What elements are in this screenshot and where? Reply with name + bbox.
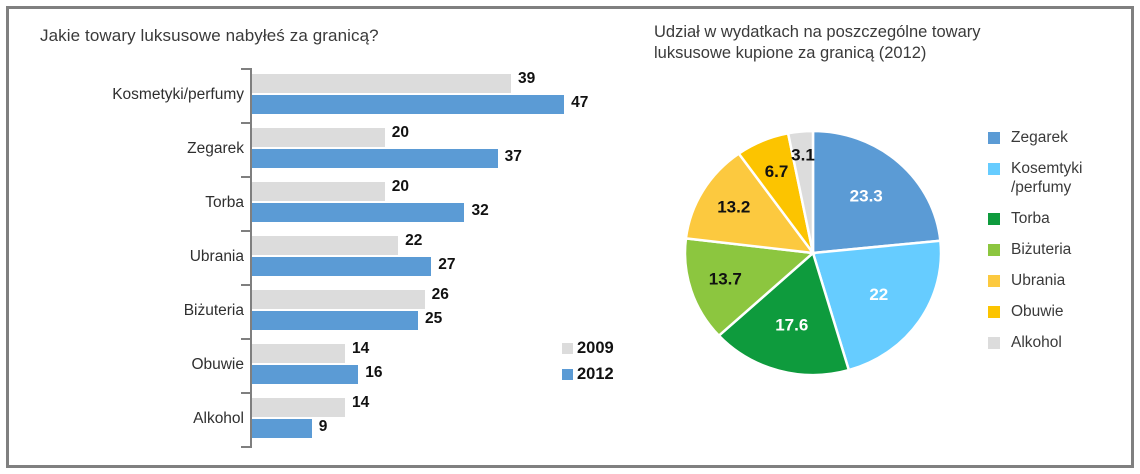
pie-legend-item: Torba: [988, 209, 1128, 228]
bar-group: Obuwie1416: [10, 342, 640, 396]
pie-legend-swatch: [988, 275, 1000, 287]
bar-chart-plot-area: Kosmetyki/perfumy3947Zegarek2037Torba203…: [10, 58, 640, 454]
pie-legend-swatch: [988, 244, 1000, 256]
bar-category-label: Ubrania: [190, 248, 244, 266]
pie-chart-panel: Udział w wydatkach na poszczególne towar…: [648, 10, 1132, 464]
bar-2012: [252, 311, 418, 330]
pie-legend-item: Alkohol: [988, 333, 1128, 352]
bar-value-label: 26: [432, 286, 449, 304]
pie-legend-label: Biżuteria: [1011, 240, 1071, 259]
bar-value-label: 22: [405, 232, 422, 250]
bar-2012: [252, 95, 564, 114]
bar-2012: [252, 149, 498, 168]
pie-slices: [685, 131, 941, 375]
pie-legend-swatch: [988, 337, 1000, 349]
bar-category-label: Zegarek: [187, 140, 244, 158]
bar-value-label: 27: [438, 256, 455, 274]
bar-value-label: 25: [425, 310, 442, 328]
pie-slice-value-label: 6.7: [765, 162, 789, 181]
bar-value-label: 20: [392, 178, 409, 196]
pie-legend-label: Obuwie: [1011, 302, 1064, 321]
pie-legend-swatch: [988, 213, 1000, 225]
bar-2009: [252, 290, 425, 309]
pie-legend-label: Kosemtyki /perfumy: [1011, 159, 1083, 197]
bar-chart-title: Jakie towary luksusowe nabyłeś za granic…: [40, 26, 379, 46]
bar-value-label: 32: [471, 202, 488, 220]
pie-legend-swatch: [988, 306, 1000, 318]
bar-group: Alkohol149: [10, 396, 640, 450]
pie-chart-plot-area: 23.32217.613.713.26.73.1: [658, 105, 988, 415]
pie-chart-legend: ZegarekKosemtyki /perfumyTorbaBiżuteriaU…: [988, 128, 1128, 364]
bar-2012: [252, 257, 431, 276]
legend-item-2009: 2009: [562, 335, 652, 361]
pie-slice-value-label: 13.2: [717, 198, 750, 217]
pie-slice-value-label: 22: [869, 285, 888, 304]
pie-legend-item: Ubrania: [988, 271, 1128, 290]
bar-category-label: Torba: [205, 194, 244, 212]
pie-chart-title: Udział w wydatkach na poszczególne towar…: [654, 22, 1054, 64]
bar-2012: [252, 365, 358, 384]
bar-2009: [252, 182, 385, 201]
pie-legend-swatch: [988, 132, 1000, 144]
pie-legend-label: Zegarek: [1011, 128, 1068, 147]
pie-slice-value-label: 13.7: [709, 269, 742, 288]
bar-2012: [252, 419, 312, 438]
pie-legend-swatch: [988, 163, 1000, 175]
bar-group: Torba2032: [10, 180, 640, 234]
bar-2009: [252, 344, 345, 363]
pie-slice-value-label: 23.3: [850, 186, 883, 205]
bar-value-label: 9: [319, 418, 328, 436]
bar-chart-panel: Jakie towary luksusowe nabyłeś za granic…: [10, 10, 640, 464]
bar-group: Biżuteria2625: [10, 288, 640, 342]
bar-category-label: Obuwie: [191, 356, 244, 374]
bar-value-label: 39: [518, 70, 535, 88]
bar-value-label: 16: [365, 364, 382, 382]
legend-item-2012: 2012: [562, 361, 652, 387]
pie-legend-item: Biżuteria: [988, 240, 1128, 259]
bar-2009: [252, 236, 398, 255]
bar-value-label: 20: [392, 124, 409, 142]
bar-value-label: 14: [352, 394, 369, 412]
bar-value-label: 37: [505, 148, 522, 166]
pie-slice-value-label: 17.6: [775, 315, 808, 334]
bar-category-label: Alkohol: [193, 410, 244, 428]
pie-legend-label: Torba: [1011, 209, 1050, 228]
legend-swatch-2012: [562, 369, 573, 380]
legend-label-2009: 2009: [577, 339, 614, 358]
chart-screenshot: Jakie towary luksusowe nabyłeś za granic…: [0, 0, 1140, 474]
pie-legend-label: Ubrania: [1011, 271, 1065, 290]
bar-2009: [252, 74, 511, 93]
bar-group: Ubrania2227: [10, 234, 640, 288]
bar-value-label: 14: [352, 340, 369, 358]
bar-chart-legend: 2009 2012: [562, 335, 652, 387]
legend-label-2012: 2012: [577, 365, 614, 384]
bar-group: Kosmetyki/perfumy3947: [10, 72, 640, 126]
pie-legend-label: Alkohol: [1011, 333, 1062, 352]
pie-slice-value-label: 3.1: [791, 145, 815, 164]
axis-tick: [241, 68, 252, 70]
bar-2009: [252, 128, 385, 147]
bar-category-label: Kosmetyki/perfumy: [112, 86, 244, 104]
bar-value-label: 47: [571, 94, 588, 112]
pie-svg: 23.32217.613.713.26.73.1: [658, 105, 988, 405]
bar-group: Zegarek2037: [10, 126, 640, 180]
bar-2009: [252, 398, 345, 417]
pie-legend-item: Obuwie: [988, 302, 1128, 321]
pie-legend-item: Zegarek: [988, 128, 1128, 147]
bar-category-label: Biżuteria: [184, 302, 244, 320]
bar-2012: [252, 203, 464, 222]
legend-swatch-2009: [562, 343, 573, 354]
pie-legend-item: Kosemtyki /perfumy: [988, 159, 1128, 197]
